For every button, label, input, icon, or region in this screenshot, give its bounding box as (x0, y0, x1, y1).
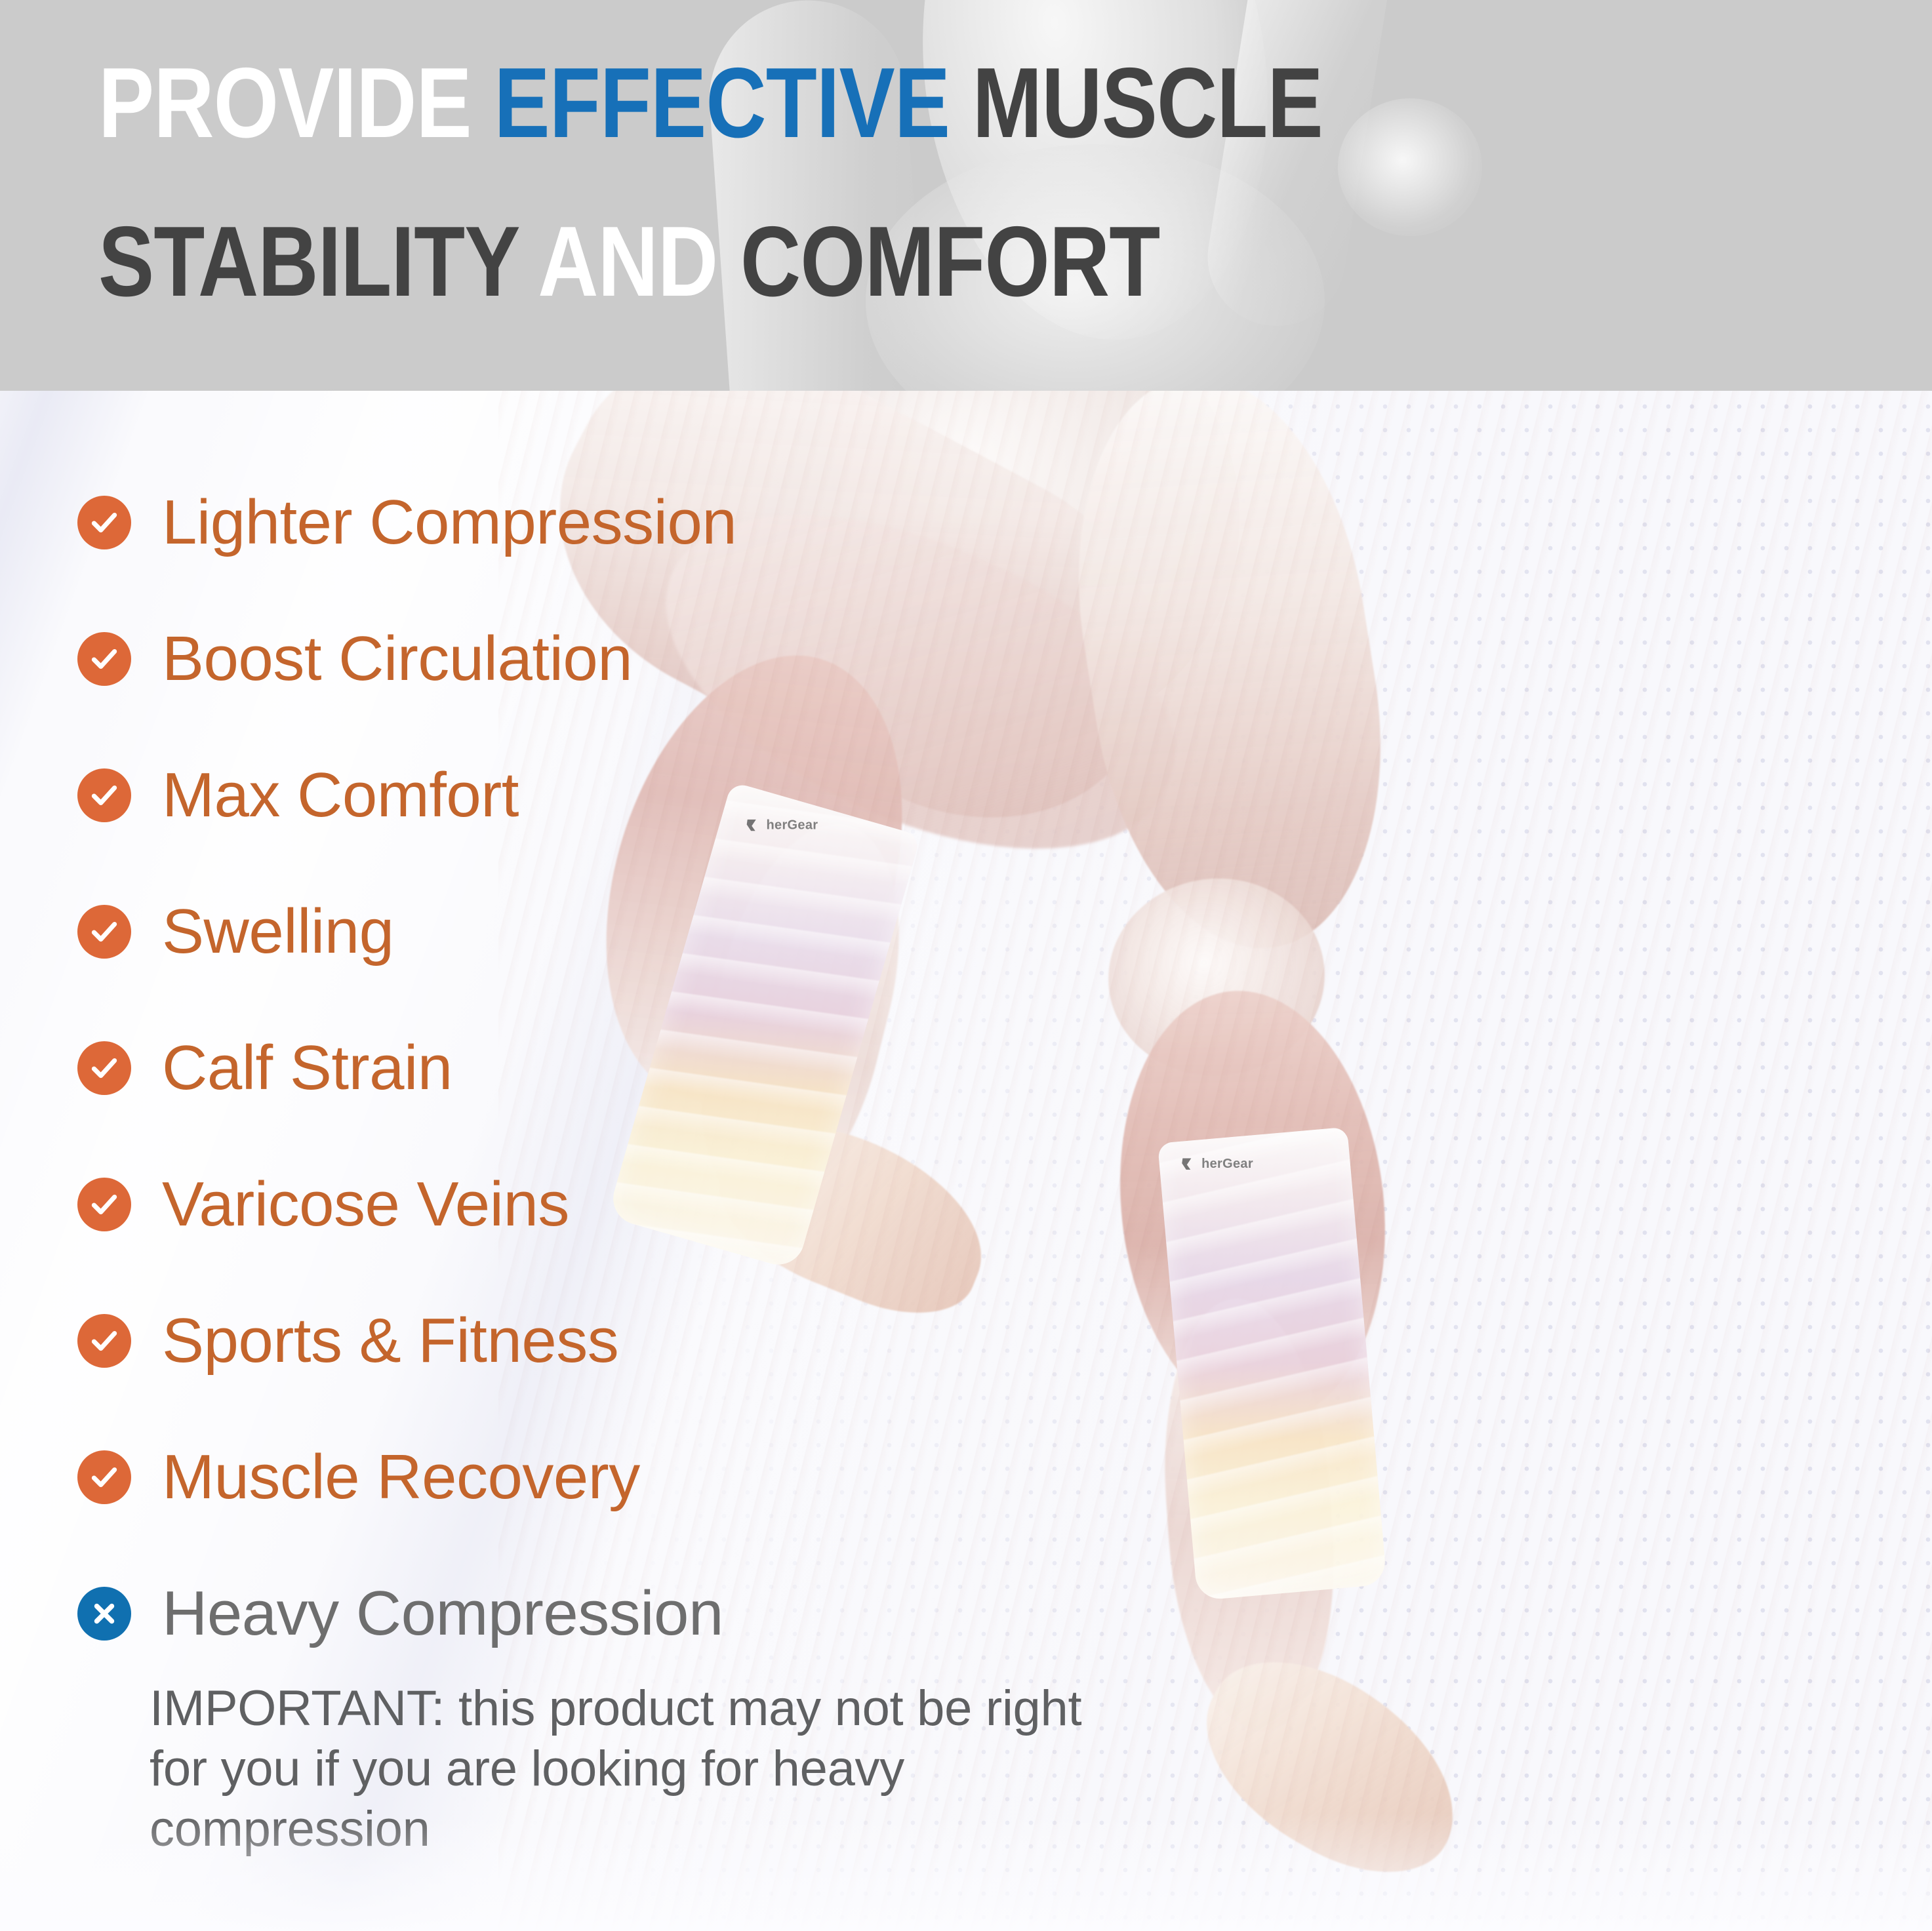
feature-row: Lighter Compression (77, 482, 1009, 563)
title-word-stability: STABILITY (98, 206, 518, 317)
check-icon (77, 1314, 131, 1368)
feature-row: Varicose Veins (77, 1164, 1009, 1245)
page-title-line-1: PROVIDE EFFECTIVE MUSCLE (98, 55, 1586, 151)
check-icon (77, 1041, 131, 1095)
check-icon (77, 1178, 131, 1231)
feature-row: Max Comfort (77, 755, 1009, 836)
feature-label: Sports & Fitness (162, 1309, 618, 1372)
title-word-and: AND (538, 206, 717, 317)
title-word-comfort: COMFORT (740, 206, 1160, 317)
feature-row: Sports & Fitness (77, 1300, 1009, 1382)
feature-label: Max Comfort (162, 764, 519, 827)
feature-label: Calf Strain (162, 1037, 453, 1100)
feature-row: Heavy Compression (77, 1573, 1009, 1654)
check-icon (77, 1450, 131, 1504)
feature-label: Swelling (162, 900, 394, 963)
feature-row: Swelling (77, 891, 1009, 972)
feature-label: Boost Circulation (162, 627, 632, 690)
page-title: PROVIDE EFFECTIVE MUSCLE STABILITY AND C… (98, 55, 1869, 309)
check-icon (77, 496, 131, 549)
check-icon (77, 632, 131, 686)
feature-row: Muscle Recovery (77, 1437, 1009, 1518)
feature-label: Muscle Recovery (162, 1446, 640, 1509)
title-word-muscle: MUSCLE (973, 47, 1323, 159)
title-word-effective: EFFECTIVE (494, 47, 950, 159)
check-icon (77, 768, 131, 822)
feature-list: Lighter CompressionBoost CirculationMax … (77, 482, 1009, 1677)
header-band: PROVIDE EFFECTIVE MUSCLE STABILITY AND C… (0, 0, 1932, 391)
feature-row: Boost Circulation (77, 618, 1009, 700)
page-title-line-2: STABILITY AND COMFORT (98, 214, 1586, 309)
feature-label: Heavy Compression (162, 1582, 723, 1645)
important-note: IMPORTANT: this product may not be right… (150, 1679, 1120, 1860)
title-word-provide: PROVIDE (98, 47, 472, 159)
feature-label: Lighter Compression (162, 491, 736, 554)
cross-icon (77, 1587, 131, 1641)
product-infographic: herGear herGear PROVIDE EFFECT (0, 0, 1932, 1931)
feature-label: Varicose Veins (162, 1173, 569, 1236)
feature-row: Calf Strain (77, 1027, 1009, 1109)
check-icon (77, 905, 131, 959)
